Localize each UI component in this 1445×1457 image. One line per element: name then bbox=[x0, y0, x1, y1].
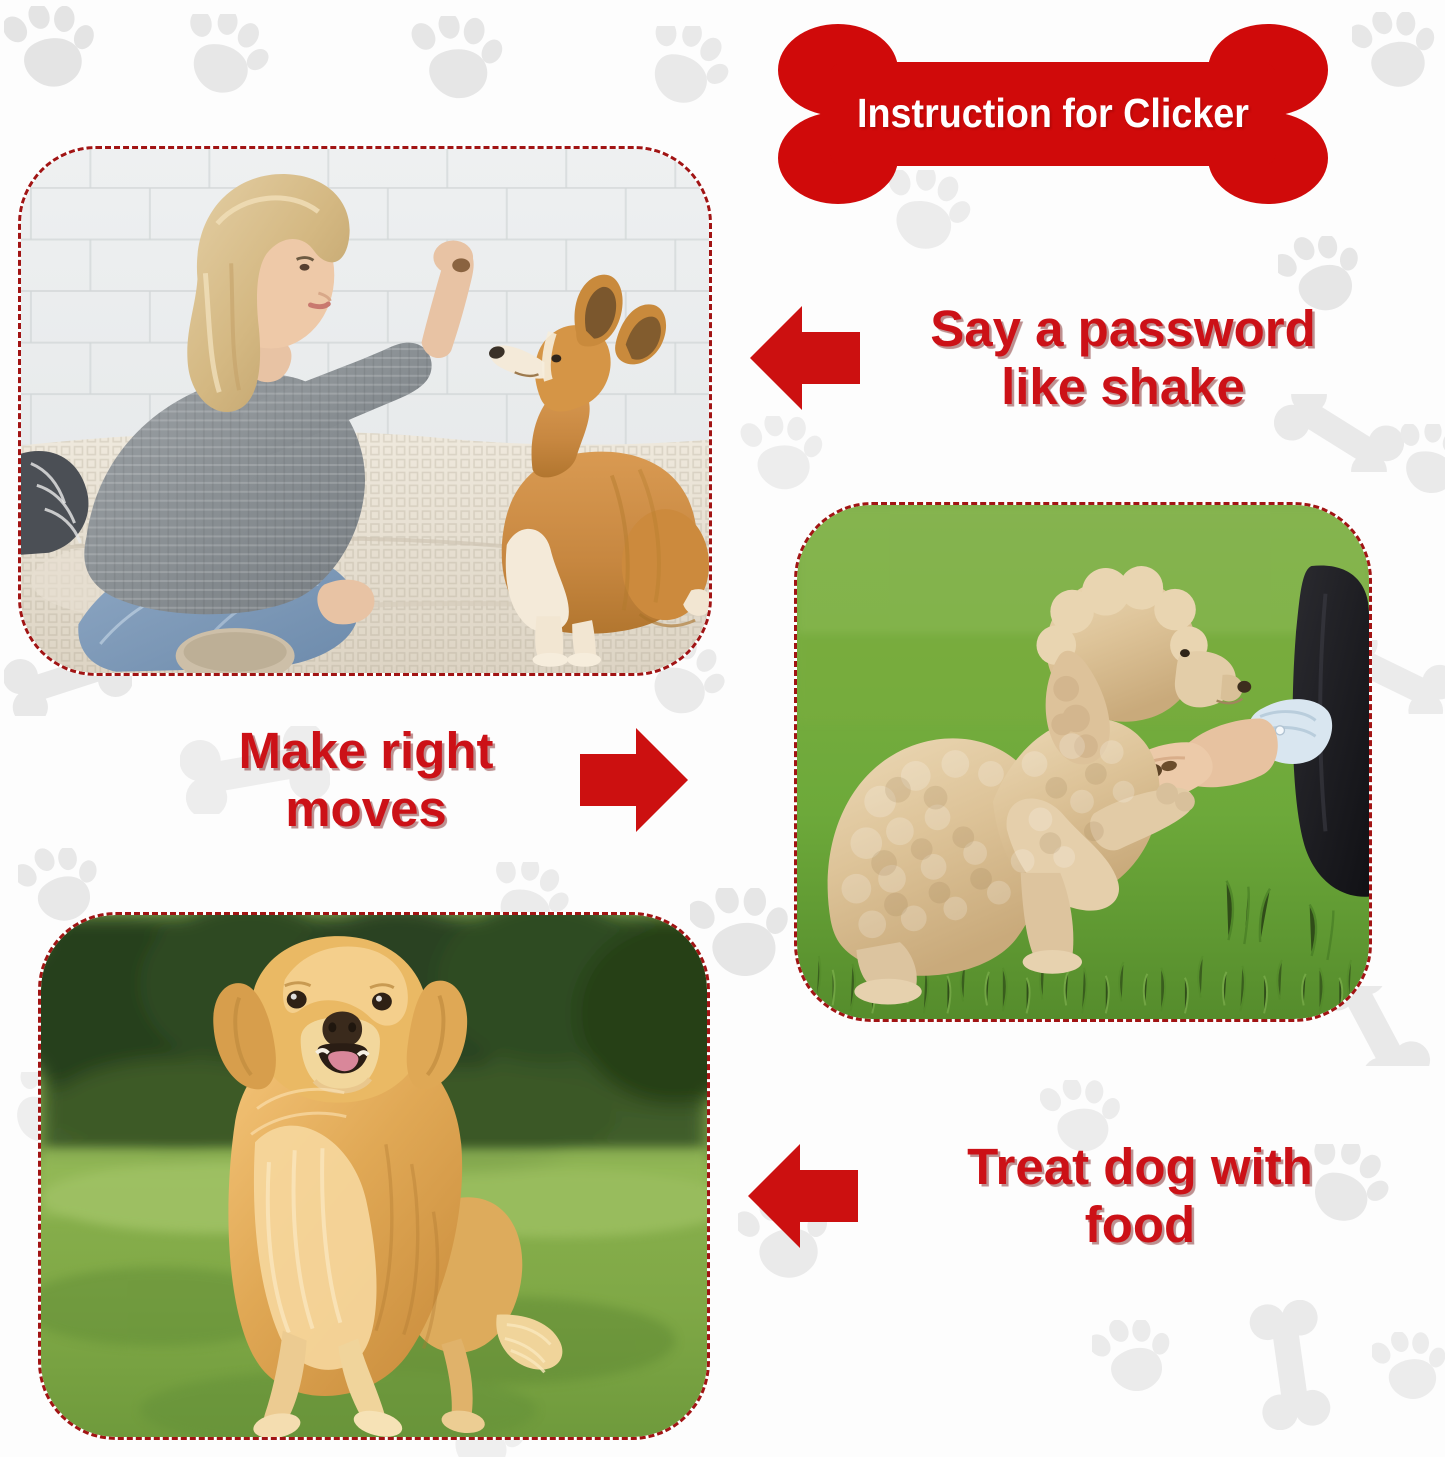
paw-print-icon bbox=[740, 416, 826, 496]
photo-golden-retriever-running bbox=[41, 915, 707, 1437]
callout-step-3-label: Treat dog with food bbox=[880, 1138, 1400, 1253]
callout-step-1-label: Say a password like shake bbox=[878, 300, 1368, 415]
paw-print-icon bbox=[1392, 424, 1445, 500]
photo-card-step-3[interactable] bbox=[38, 912, 710, 1440]
callout-step-1: Say a password like shake bbox=[750, 300, 1370, 415]
photo-card-step-1[interactable] bbox=[18, 146, 712, 676]
photo-poodle-shaking-paw bbox=[797, 505, 1369, 1019]
photo-1-artwork bbox=[21, 149, 709, 673]
paw-print-icon bbox=[410, 16, 506, 106]
paw-print-icon bbox=[1092, 1320, 1176, 1398]
photo-3-artwork bbox=[41, 915, 707, 1437]
paw-print-icon bbox=[178, 14, 270, 100]
paw-print-icon bbox=[1352, 12, 1440, 94]
arrow-right-icon bbox=[580, 724, 688, 836]
callout-step-2-label: Make right moves bbox=[168, 722, 564, 837]
callout-step-2: Make right moves bbox=[168, 722, 688, 837]
photo-woman-training-corgi bbox=[21, 149, 709, 673]
arrow-left-icon bbox=[748, 1140, 858, 1252]
paw-print-icon bbox=[4, 6, 99, 94]
bone-title-banner: Instruction for Clicker bbox=[778, 22, 1328, 204]
photo-card-step-2[interactable] bbox=[794, 502, 1372, 1022]
infographic-canvas: Instruction for Clicker bbox=[0, 0, 1445, 1457]
photo-2-artwork bbox=[797, 505, 1369, 1019]
paw-print-icon bbox=[640, 26, 730, 110]
bone-shape-icon bbox=[1248, 1300, 1332, 1430]
arrow-left-icon bbox=[750, 302, 860, 414]
banner-title: Instruction for Clicker bbox=[800, 22, 1306, 204]
callout-step-3: Treat dog with food bbox=[748, 1138, 1408, 1253]
paw-print-icon bbox=[1372, 1332, 1445, 1406]
